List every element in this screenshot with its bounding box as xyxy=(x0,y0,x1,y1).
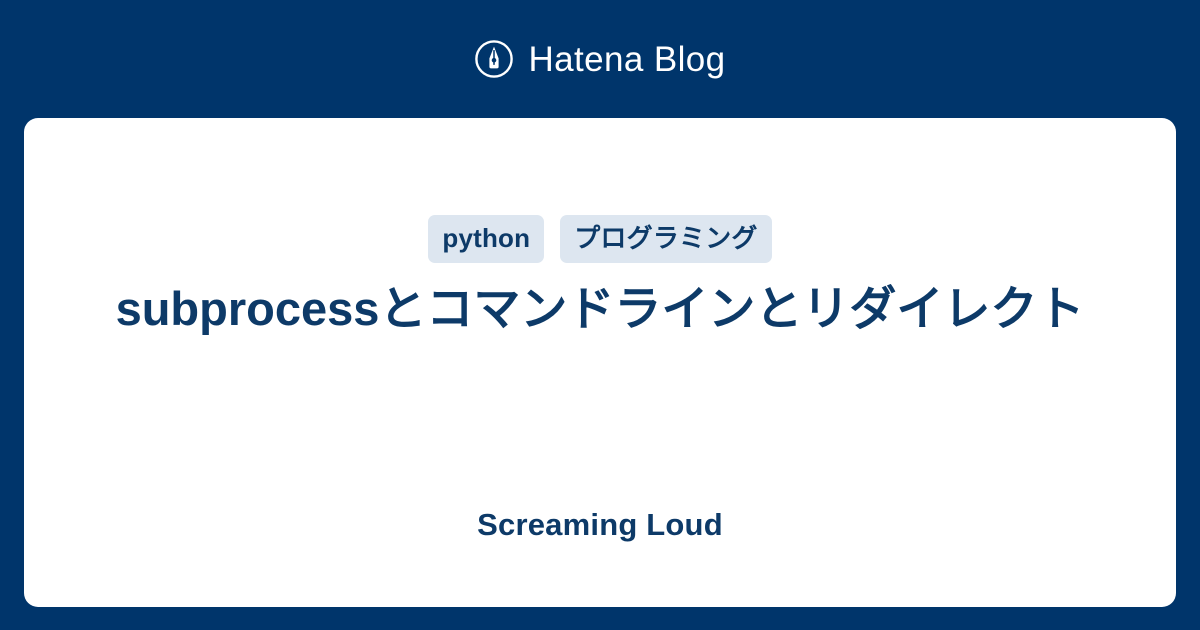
hatena-pen-nib-icon xyxy=(474,39,514,79)
og-image-canvas: Hatena Blog python プログラミング subprocessとコマ… xyxy=(0,0,1200,630)
site-header: Hatena Blog xyxy=(0,0,1200,118)
blog-name: Screaming Loud xyxy=(84,506,1116,543)
tag-list: python プログラミング xyxy=(24,215,1176,263)
entry-card: python プログラミング subprocessとコマンドラインとリダイレクト… xyxy=(24,118,1176,607)
entry-title: subprocessとコマンドラインとリダイレクト xyxy=(84,278,1116,341)
tag-programming[interactable]: プログラミング xyxy=(560,215,771,263)
tag-python[interactable]: python xyxy=(428,215,544,263)
brand-name: Hatena Blog xyxy=(528,42,725,77)
